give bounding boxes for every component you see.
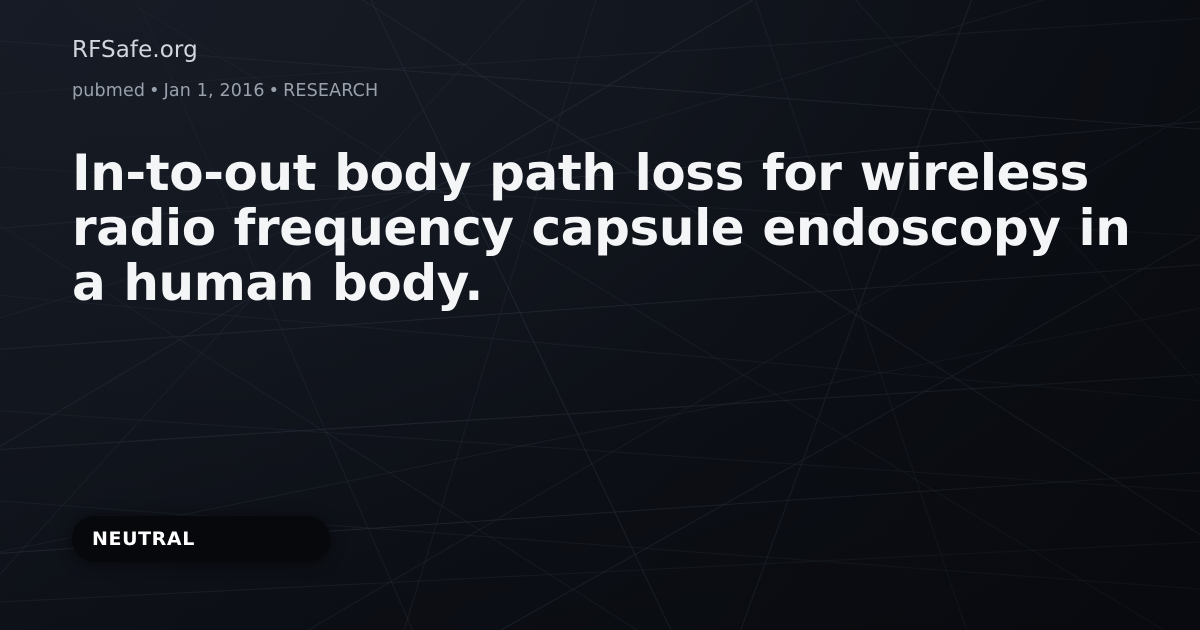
card-content: RFSafe.org pubmed•Jan 1, 2016•RESEARCH I… xyxy=(0,0,1200,630)
meta-separator-1: • xyxy=(145,81,163,101)
article-meta: pubmed•Jan 1, 2016•RESEARCH xyxy=(72,80,378,102)
meta-date: Jan 1, 2016 xyxy=(164,81,265,101)
meta-separator-2: • xyxy=(265,81,283,101)
social-share-card: RFSafe.org pubmed•Jan 1, 2016•RESEARCH I… xyxy=(0,0,1200,630)
meta-source: pubmed xyxy=(72,81,145,101)
sentiment-badge-label: NEUTRAL xyxy=(72,528,195,550)
brand-name: RFSafe.org xyxy=(72,36,198,64)
meta-category: RESEARCH xyxy=(283,81,378,101)
article-headline: In-to-out body path loss for wireless ra… xyxy=(72,146,1132,311)
sentiment-badge: NEUTRAL xyxy=(72,516,330,562)
